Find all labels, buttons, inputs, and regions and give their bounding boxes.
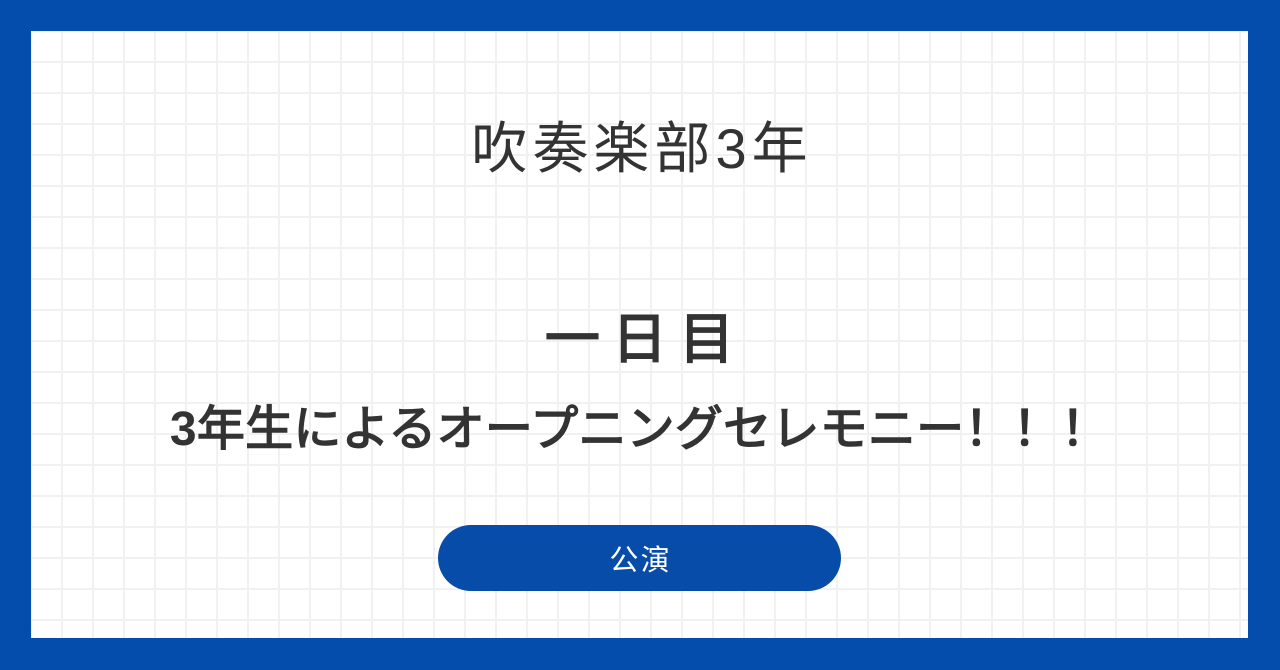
day-label: 一日目 xyxy=(31,304,1248,376)
category-button-container: 公演 xyxy=(31,525,1248,591)
category-button-performance[interactable]: 公演 xyxy=(438,525,841,591)
poster-content: 吹奏楽部3年 一日目 3年生によるオープニングセレモニー！！！ 公演 xyxy=(31,31,1248,638)
poster-frame: 吹奏楽部3年 一日目 3年生によるオープニングセレモニー！！！ 公演 xyxy=(0,0,1280,670)
club-name-heading: 吹奏楽部3年 xyxy=(31,114,1248,184)
program-description: 3年生によるオープニングセレモニー！！！ xyxy=(31,399,1248,461)
poster-grid-canvas: 吹奏楽部3年 一日目 3年生によるオープニングセレモニー！！！ 公演 xyxy=(31,31,1248,638)
